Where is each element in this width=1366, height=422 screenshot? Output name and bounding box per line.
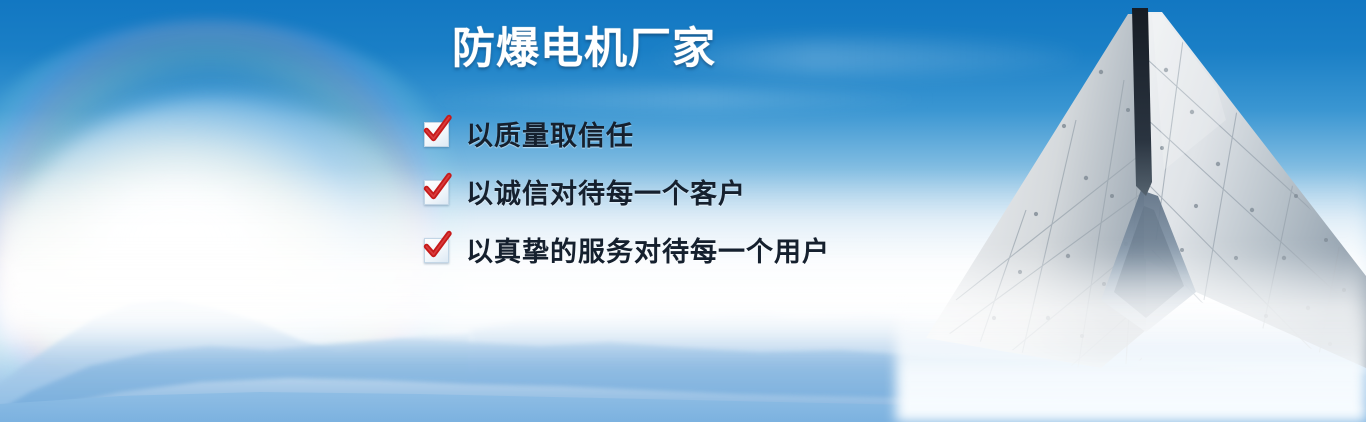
rainbow-halo-icon (0, 20, 490, 422)
red-check-icon (422, 118, 452, 148)
red-check-icon (422, 176, 452, 206)
list-item: 以真挚的服务对待每一个用户 (422, 220, 942, 278)
promo-banner: 防爆电机厂家 以质量取信任 以诚信对待每一个客户 (0, 0, 1366, 422)
concrete-monument (896, 0, 1366, 422)
monument-base-mist (896, 300, 1366, 422)
list-item-label: 以诚信对待每一个客户 (466, 172, 746, 211)
list-item: 以质量取信任 (422, 104, 942, 162)
sun-glow-icon (10, 95, 430, 415)
page-title: 防爆电机厂家 (452, 24, 716, 75)
list-item-label: 以真挚的服务对待每一个用户 (466, 230, 830, 269)
red-check-icon (422, 234, 452, 264)
list-item: 以诚信对待每一个客户 (422, 162, 942, 220)
list-item-label: 以质量取信任 (466, 114, 634, 153)
feature-list: 以质量取信任 以诚信对待每一个客户 以真挚的服务对待每一个用户 (422, 104, 942, 278)
